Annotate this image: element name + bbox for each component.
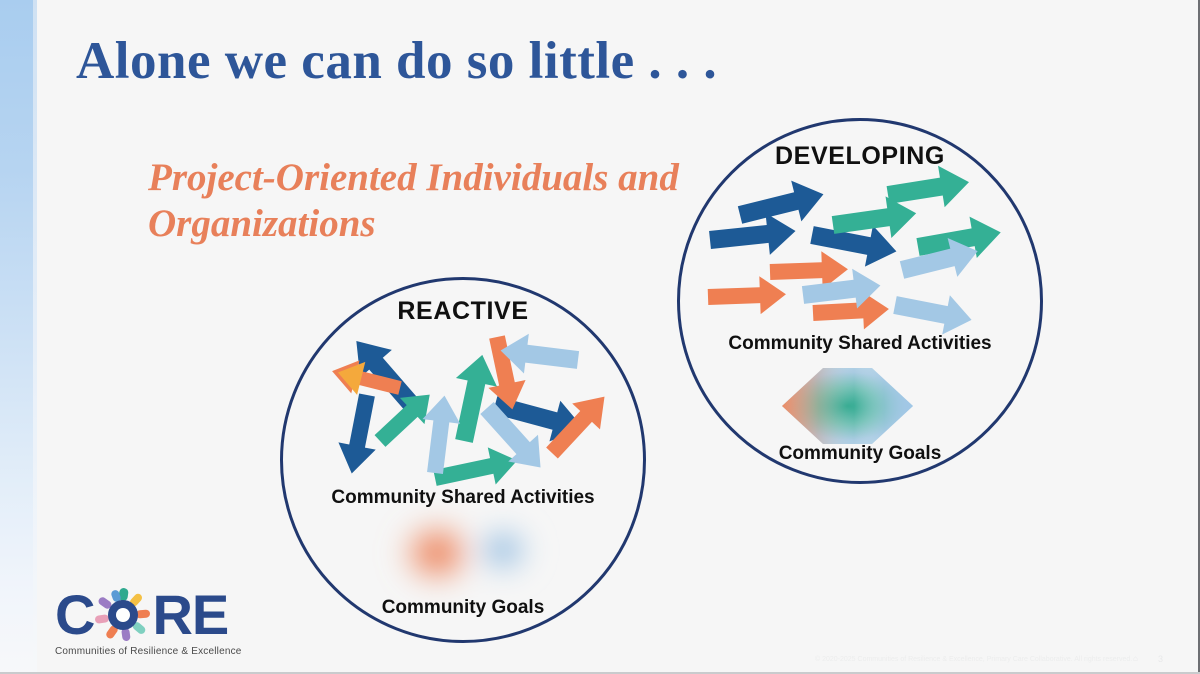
- footer-copyright: © 2020-2025 Communities of Resilience & …: [815, 656, 1132, 663]
- page-number: 3: [1158, 654, 1163, 664]
- left-accent-bar-edge: [33, 0, 37, 674]
- logo-tagline: Communities of Resilience & Excellence: [55, 646, 255, 657]
- home-icon[interactable]: ⌂: [1133, 654, 1138, 663]
- slide-title: Alone we can do so little . . .: [76, 31, 717, 91]
- reactive-title: REACTIVE: [363, 297, 563, 326]
- developing-circle: [677, 118, 1043, 484]
- developing-title: DEVELOPING: [750, 142, 970, 171]
- reactive-circle: [280, 277, 646, 643]
- reactive-goals-label: Community Goals: [363, 597, 563, 619]
- left-accent-bar: [0, 0, 37, 674]
- core-logo: C: [55, 588, 255, 657]
- logo-o-icon: [95, 588, 151, 642]
- slide-subtitle: Project-Oriented Individuals and Organiz…: [148, 155, 708, 247]
- logo-letter-c: C: [55, 588, 94, 642]
- logo-letter-e: E: [192, 588, 228, 642]
- developing-activities-label: Community Shared Activities: [710, 333, 1010, 355]
- developing-goals-label: Community Goals: [760, 443, 960, 465]
- core-logo-wordmark: C: [55, 588, 255, 642]
- logo-letter-r: R: [152, 588, 191, 642]
- reactive-activities-label: Community Shared Activities: [313, 487, 613, 509]
- slide-canvas: Alone we can do so little . . . Project-…: [0, 0, 1200, 674]
